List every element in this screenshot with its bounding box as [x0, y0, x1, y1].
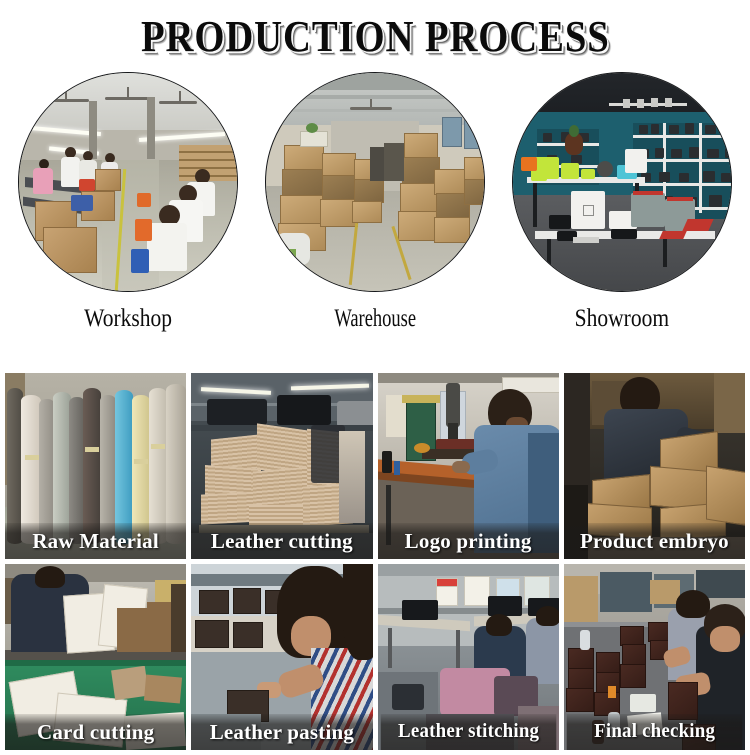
facility-circle-row: Workshop [0, 72, 750, 357]
step-label-leather-cutting: Leather cutting [191, 523, 372, 559]
showroom-photo [513, 73, 731, 291]
facility-caption-warehouse: Warehouse [334, 305, 416, 333]
production-steps-grid: Raw Material [5, 373, 745, 750]
facility-image-showroom [512, 72, 732, 292]
step-tile-leather-stitching[interactable]: Leather stitching [378, 564, 559, 750]
workshop-photo [19, 73, 237, 291]
step-tile-leather-pasting[interactable]: Leather pasting [191, 564, 372, 750]
step-label-logo-printing: Logo printing [378, 523, 559, 559]
step-label-card-cutting: Card cutting [5, 714, 186, 750]
step-label-final-checking: Final checking [566, 714, 742, 750]
page-title: PRODUCTION PROCESS [141, 11, 610, 62]
warehouse-photo [266, 73, 484, 291]
facility-image-workshop [18, 72, 238, 292]
facility-image-warehouse [265, 72, 485, 292]
step-label-leather-pasting: Leather pasting [191, 714, 372, 750]
step-tile-logo-printing[interactable]: Logo printing [378, 373, 559, 559]
step-tile-card-cutting[interactable]: Card cutting [5, 564, 186, 750]
facility-card-showroom[interactable]: Showroom [508, 72, 736, 357]
step-tile-raw-material[interactable]: Raw Material [5, 373, 186, 559]
facility-caption-workshop: Workshop [84, 305, 172, 333]
facility-card-warehouse[interactable]: Warehouse [261, 72, 489, 357]
facility-card-workshop[interactable]: Workshop [14, 72, 242, 357]
page-header: PRODUCTION PROCESS [0, 0, 750, 72]
step-label-raw-material: Raw Material [5, 523, 186, 559]
step-label-product-embryo: Product embryo [564, 523, 745, 559]
step-tile-final-checking[interactable]: Final checking [564, 564, 745, 750]
facility-caption-showroom: Showroom [575, 305, 669, 333]
step-tile-leather-cutting[interactable]: Leather cutting [191, 373, 372, 559]
step-label-leather-stitching: Leather stitching [380, 714, 556, 750]
step-tile-product-embryo[interactable]: Product embryo [564, 373, 745, 559]
